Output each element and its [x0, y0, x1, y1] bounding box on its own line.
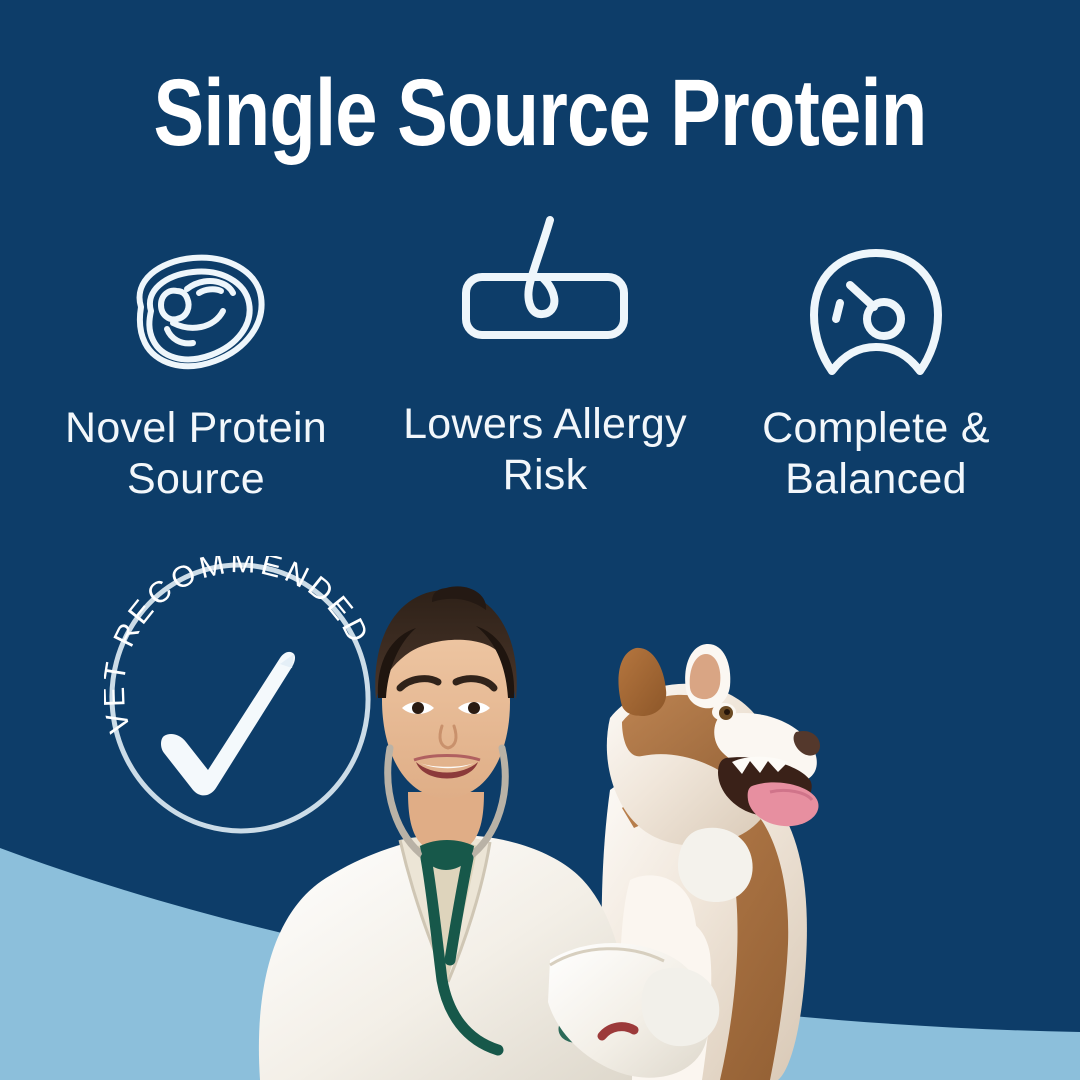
- feature-lowers-allergy-risk: Lowers Allergy Risk: [375, 215, 715, 500]
- feature-label-complete-balanced: Complete & Balanced: [706, 403, 1046, 504]
- page-title: Single Source Protein: [108, 66, 972, 161]
- feature-label-lowers-allergy-risk: Lowers Allergy Risk: [375, 399, 715, 500]
- hair-follicle-icon: [375, 215, 715, 385]
- feature-label-line2: Source: [26, 454, 366, 505]
- gauge-icon: [706, 215, 1046, 385]
- feature-label-line2: Balanced: [706, 454, 1046, 505]
- feature-label-novel-protein-source: Novel Protein Source: [26, 403, 366, 504]
- feature-label-line2: Risk: [375, 450, 715, 501]
- feature-label-line1: Lowers Allergy: [375, 399, 715, 450]
- feature-label-line1: Complete &: [706, 403, 1046, 454]
- feature-row: Novel Protein Source Lowers Allergy Risk: [0, 215, 1080, 525]
- vet-and-dog-photo: [250, 540, 850, 1080]
- feature-novel-protein-source: Novel Protein Source: [26, 215, 366, 504]
- steak-icon: [26, 215, 366, 385]
- feature-label-line1: Novel Protein: [26, 403, 366, 454]
- feature-complete-balanced: Complete & Balanced: [706, 215, 1046, 504]
- promo-graphic: Single Source Protein Novel Protein: [0, 0, 1080, 1080]
